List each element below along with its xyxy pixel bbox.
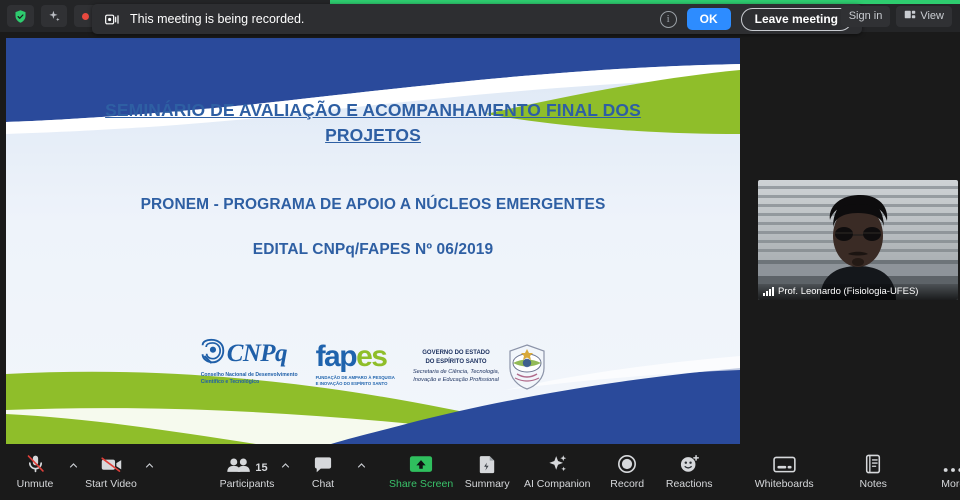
share-screen-up-arrow-icon [409, 452, 433, 474]
participant-webcam-image [758, 180, 958, 300]
recording-notification-banner: This meeting is being recorded. i OK Lea… [92, 4, 862, 34]
reactions-button[interactable]: Reactions [658, 446, 720, 496]
notes-icon [864, 452, 882, 474]
participants-label: Participants [220, 478, 275, 490]
view-button[interactable]: View [896, 6, 952, 27]
signal-bars-icon [763, 287, 774, 296]
chevron-up-icon [357, 461, 366, 470]
recording-dot-icon [82, 13, 89, 20]
share-screen-label: Share Screen [389, 478, 453, 490]
audio-options-chevron[interactable] [66, 442, 80, 488]
chat-bubble-icon [313, 452, 333, 474]
whiteboards-button[interactable]: Whiteboards [746, 446, 822, 496]
chat-options-chevron[interactable] [354, 442, 368, 488]
ai-sparkle-icon [47, 9, 61, 23]
participants-options-chevron[interactable] [278, 442, 292, 488]
leave-meeting-button[interactable]: Leave meeting [741, 8, 852, 31]
whiteboard-icon [773, 452, 796, 474]
top-right-controls: Sign in View [841, 0, 960, 32]
sign-in-label: Sign in [849, 10, 883, 22]
more-button[interactable]: More [922, 446, 960, 496]
slide-subtitle-1: PRONEM - PROGRAMA DE APOIO A NÚCLEOS EME… [53, 196, 693, 214]
participant-name-badge: Prof. Leonardo (Fisiologia-UFES) [758, 284, 958, 300]
slide-subtitle-2: EDITAL CNPq/FAPES Nº 06/2019 [53, 241, 693, 259]
ellipsis-icon [942, 452, 960, 474]
shield-check-icon [13, 9, 28, 24]
participants-button[interactable]: 15 Participants [216, 446, 278, 496]
camera-muted-icon [100, 452, 123, 474]
video-options-chevron[interactable] [142, 442, 156, 488]
record-circle-icon [617, 452, 637, 474]
share-screen-button[interactable]: Share Screen [386, 446, 456, 496]
unmute-label: Unmute [17, 478, 54, 490]
layout-view-icon [904, 9, 916, 23]
sign-in-button[interactable]: Sign in [841, 6, 891, 27]
record-button[interactable]: Record [596, 446, 658, 496]
shared-screen-slide: SEMINÁRIO DE AVALIAÇÃO E ACOMPANHAMENTO … [6, 38, 740, 444]
ai-sparkle-icon [547, 452, 568, 474]
start-video-label: Start Video [85, 478, 137, 490]
unmute-button[interactable]: Unmute [4, 446, 66, 496]
chat-button[interactable]: Chat [292, 446, 354, 496]
toolbar-left-group: Unmute Start Video [0, 442, 156, 500]
whiteboards-label: Whiteboards [755, 478, 814, 490]
summary-label: Summary [465, 478, 510, 490]
view-label: View [920, 10, 944, 22]
ai-companion-top-chip[interactable] [41, 5, 67, 27]
participants-count: 15 [255, 462, 267, 474]
microphone-muted-icon [25, 452, 46, 474]
reactions-label: Reactions [666, 478, 713, 490]
recording-banner-message: This meeting is being recorded. [130, 12, 660, 26]
participant-video-tile[interactable]: Prof. Leonardo (Fisiologia-UFES) [758, 180, 958, 300]
people-icon: 15 [226, 452, 267, 474]
recording-camera-icon [105, 13, 121, 26]
notes-label: Notes [860, 478, 887, 490]
notes-button[interactable]: Notes [842, 446, 904, 496]
security-shield-chip[interactable] [7, 5, 34, 27]
ai-companion-label: AI Companion [524, 478, 591, 490]
meeting-stage: SEMINÁRIO DE AVALIAÇÃO E ACOMPANHAMENTO … [0, 32, 960, 444]
record-label: Record [610, 478, 644, 490]
slide-title: SEMINÁRIO DE AVALIAÇÃO E ACOMPANHAMENTO … [73, 98, 673, 148]
info-icon[interactable]: i [660, 11, 677, 28]
chevron-up-icon [145, 461, 154, 470]
toolbar-main-group: 15 Participants Chat S [156, 442, 960, 500]
smiley-plus-icon [679, 452, 700, 474]
chat-label: Chat [312, 478, 334, 490]
ai-companion-button[interactable]: AI Companion [518, 446, 596, 496]
meeting-toolbar: Unmute Start Video [0, 444, 960, 498]
more-label: More [941, 478, 960, 490]
summary-document-icon [478, 452, 496, 474]
start-video-button[interactable]: Start Video [80, 446, 142, 496]
summary-button[interactable]: Summary [456, 446, 518, 496]
chevron-up-icon [69, 461, 78, 470]
ok-button[interactable]: OK [687, 8, 731, 30]
participant-name-label: Prof. Leonardo (Fisiologia-UFES) [778, 286, 918, 297]
chevron-up-icon [281, 461, 290, 470]
